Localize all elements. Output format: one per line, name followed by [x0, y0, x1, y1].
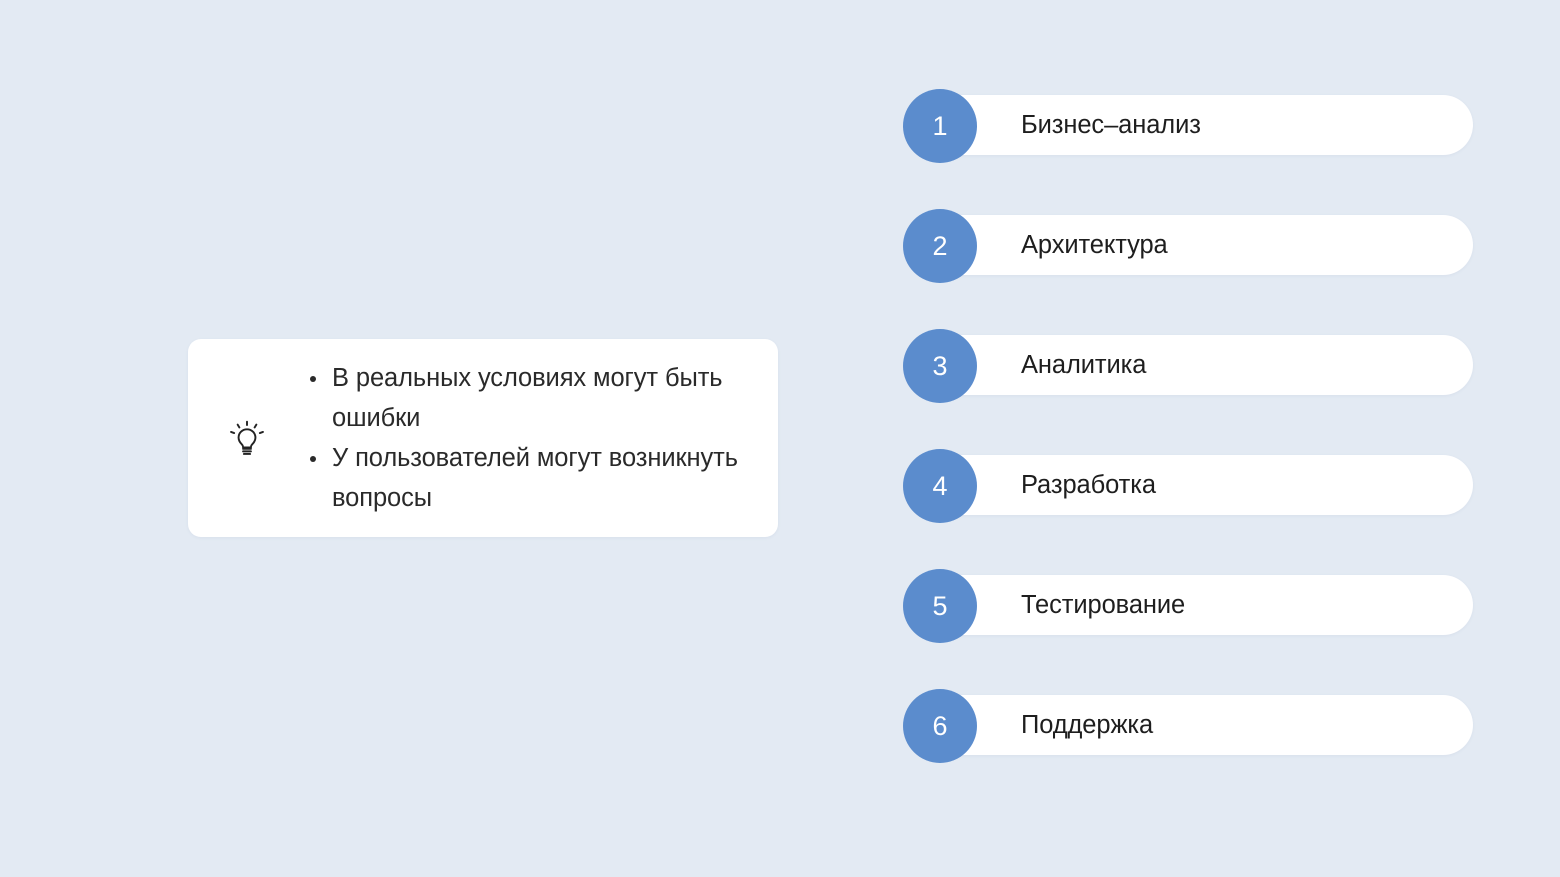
step-item-1[interactable]: 1 Бизнес–анализ: [903, 89, 1473, 161]
step-pill: [915, 575, 1473, 635]
list-item: В реальных условиях могут быть ошибки: [306, 358, 738, 438]
step-pill: [915, 335, 1473, 395]
step-number-badge: 1: [903, 89, 977, 163]
step-label: Поддержка: [1021, 711, 1153, 740]
step-number-badge: 3: [903, 329, 977, 403]
step-pill: [915, 455, 1473, 515]
tip-bullet-list: В реальных условиях могут быть ошибки У …: [306, 358, 778, 518]
process-steps-list: 1 Бизнес–анализ 2 Архитектура 3 Аналитик…: [903, 89, 1473, 761]
step-number-badge: 6: [903, 689, 977, 763]
step-item-5[interactable]: 5 Тестирование: [903, 569, 1473, 641]
step-label: Разработка: [1021, 471, 1156, 500]
step-label: Архитектура: [1021, 231, 1168, 260]
step-label: Аналитика: [1021, 351, 1146, 380]
tip-icon-container: [188, 416, 306, 460]
step-item-6[interactable]: 6 Поддержка: [903, 689, 1473, 761]
step-number-badge: 2: [903, 209, 977, 283]
slide-canvas: В реальных условиях могут быть ошибки У …: [0, 0, 1560, 877]
tip-card: В реальных условиях могут быть ошибки У …: [188, 339, 778, 537]
step-label: Тестирование: [1021, 591, 1185, 620]
step-number-badge: 4: [903, 449, 977, 523]
step-item-3[interactable]: 3 Аналитика: [903, 329, 1473, 401]
step-pill: [915, 695, 1473, 755]
list-item: У пользователей могут возникнуть вопросы: [306, 438, 738, 518]
step-item-2[interactable]: 2 Архитектура: [903, 209, 1473, 281]
step-pill: [915, 215, 1473, 275]
step-item-4[interactable]: 4 Разработка: [903, 449, 1473, 521]
step-number-badge: 5: [903, 569, 977, 643]
step-label: Бизнес–анализ: [1021, 111, 1201, 140]
lightbulb-icon: [225, 416, 269, 460]
